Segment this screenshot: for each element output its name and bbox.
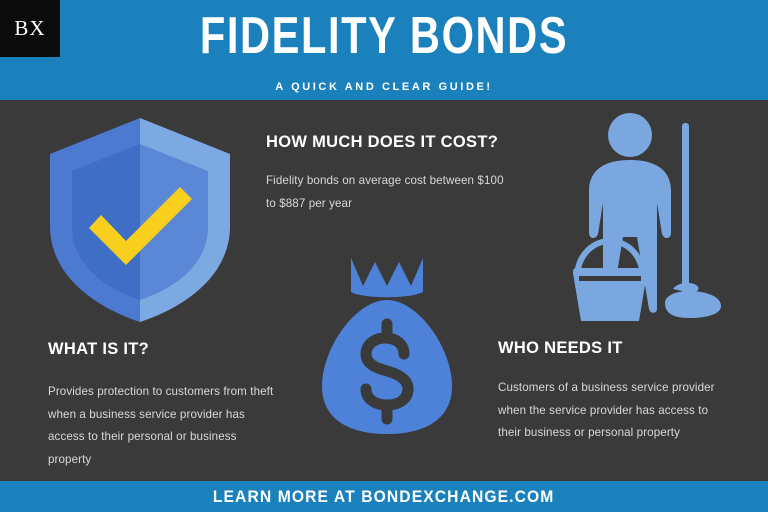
cost-heading: HOW MUCH DOES IT COST? (266, 133, 498, 152)
who-needs-it-heading: WHO NEEDS IT (498, 339, 623, 358)
what-is-it-heading: WHAT IS IT? (48, 340, 149, 359)
janitor-icon (565, 113, 725, 327)
brand-logo[interactable]: BX (0, 0, 60, 57)
what-is-it-body-text: Provides protection to customers from th… (48, 381, 283, 471)
cost-body-text: Fidelity bonds on average cost between $… (266, 170, 511, 215)
footer-cta-bar[interactable]: LEARN MORE AT BONDEXCHANGE.COM (0, 481, 768, 512)
brand-logo-text: BX (14, 18, 45, 39)
money-bag-icon (318, 252, 456, 438)
main-content: HOW MUCH DOES IT COST? Fidelity bonds on… (0, 100, 768, 481)
page-title: FIDELITY BONDS (77, 8, 691, 64)
shield-check-icon (44, 114, 236, 326)
header-banner: BX FIDELITY BONDS A QUICK AND CLEAR GUID… (0, 0, 768, 100)
footer-cta-text: LEARN MORE AT BONDEXCHANGE.COM (213, 487, 555, 507)
who-needs-it-body-text: Customers of a business service provider… (498, 377, 716, 445)
page-subtitle: A QUICK AND CLEAR GUIDE! (0, 81, 768, 93)
